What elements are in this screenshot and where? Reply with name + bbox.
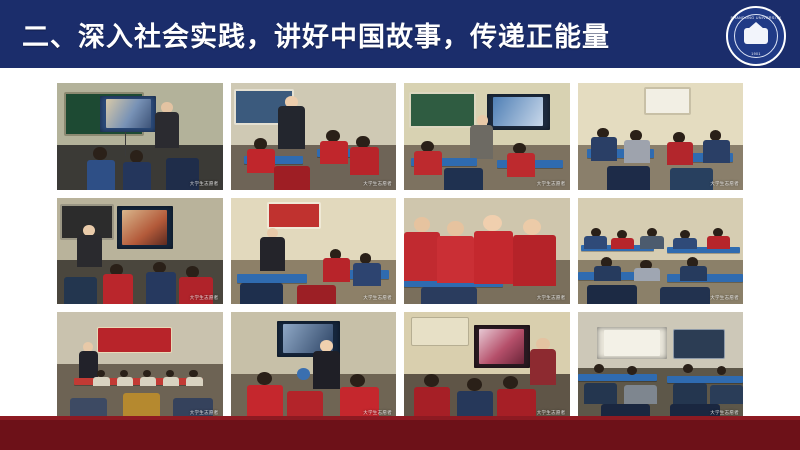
photo-7: 大学生志愿者 (403, 197, 571, 306)
school-emblem-icon: SHANDONG UNIVERSITY 1901 (726, 6, 786, 66)
photo-watermark: 大学生志愿者 (710, 295, 739, 301)
photo-watermark: 大学生志愿者 (537, 295, 566, 301)
classroom-scene (404, 312, 570, 419)
photo-watermark: 大学生志愿者 (537, 181, 566, 187)
classroom-scene (578, 198, 744, 305)
classroom-scene (578, 312, 744, 419)
emblem-top-text: SHANDONG UNIVERSITY (731, 16, 782, 20)
emblem-core-shape (744, 28, 768, 44)
page-title: 二、深入社会实践，讲好中国故事，传递正能量 (22, 15, 610, 54)
photo-5: 大学生志愿者 (56, 197, 224, 306)
classroom-scene (578, 83, 744, 190)
classroom-scene (231, 83, 397, 190)
slide-title-bar: 二、深入社会实践，讲好中国故事，传递正能量 SHANDONG UNIVERSIT… (0, 0, 800, 68)
classroom-scene (57, 83, 223, 190)
slide-footer-bar (0, 420, 800, 450)
auditorium-scene (57, 312, 223, 419)
photo-4: 大学生志愿者 (577, 82, 745, 191)
photo-watermark: 大学生志愿者 (363, 295, 392, 301)
classroom-scene (404, 198, 570, 305)
photo-watermark: 大学生志愿者 (190, 295, 219, 301)
classroom-scene (231, 198, 397, 305)
photo-3: 大学生志愿者 (403, 82, 571, 191)
photo-watermark: 大学生志愿者 (363, 181, 392, 187)
photo-1: 大学生志愿者 (56, 82, 224, 191)
emblem-ring: SHANDONG UNIVERSITY 1901 (734, 14, 778, 58)
classroom-scene (57, 198, 223, 305)
photo-watermark: 大学生志愿者 (710, 181, 739, 187)
photo-watermark: 大学生志愿者 (190, 181, 219, 187)
photo-8: 大学生志愿者 (577, 197, 745, 306)
photo-10: 大学生志愿者 (230, 311, 398, 420)
emblem-bottom-text: 1901 (751, 52, 761, 56)
classroom-scene (231, 312, 397, 419)
photo-11: 大学生志愿者 (403, 311, 571, 420)
photo-2: 大学生志愿者 (230, 82, 398, 191)
presentation-slide: 二、深入社会实践，讲好中国故事，传递正能量 SHANDONG UNIVERSIT… (0, 0, 800, 450)
photo-grid: 大学生志愿者 大学生志愿者 (56, 82, 744, 420)
photo-9: 大学生志愿者 (56, 311, 224, 420)
classroom-scene (404, 83, 570, 190)
photo-6: 大学生志愿者 (230, 197, 398, 306)
photo-12: 大学生志愿者 (577, 311, 745, 420)
